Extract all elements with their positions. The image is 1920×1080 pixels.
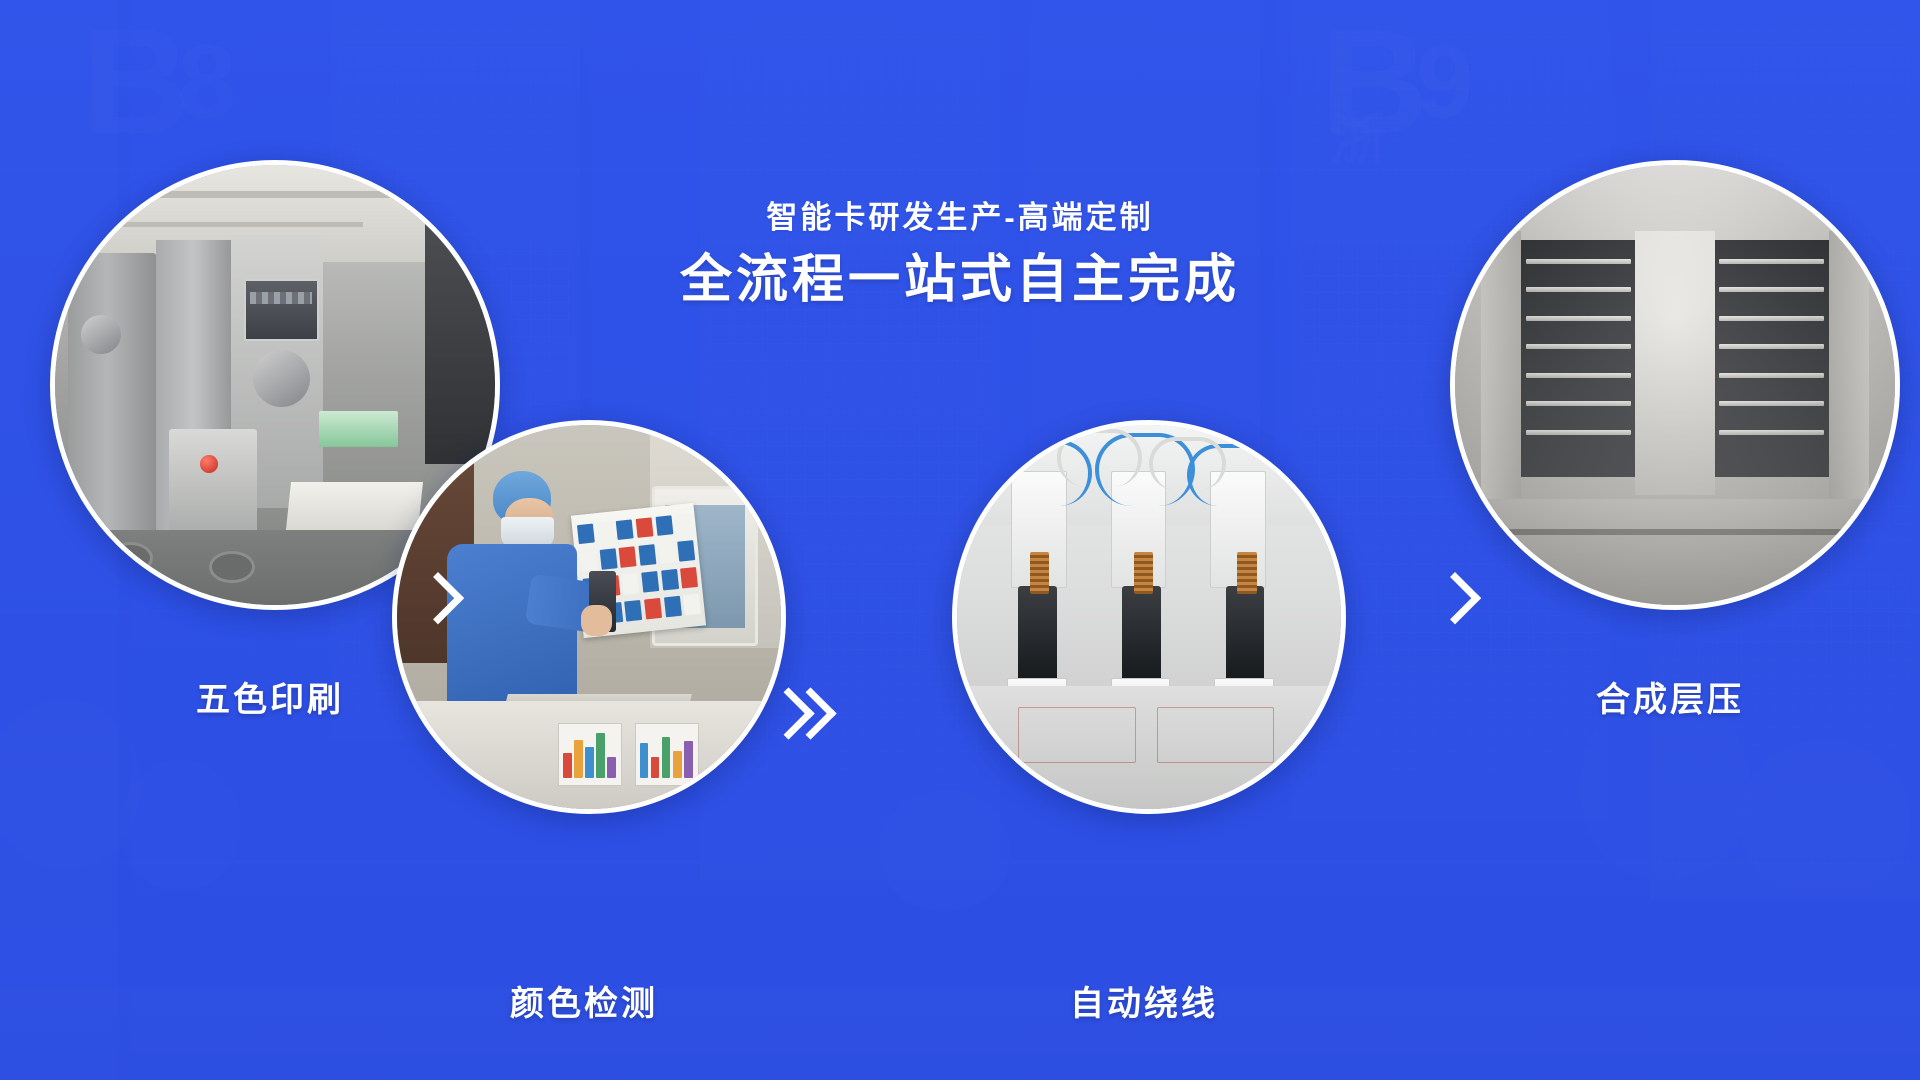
coil-winding-photo (957, 425, 1341, 809)
auto-winding-label: 自动绕线 (964, 976, 1324, 1025)
lamination-photo-circle[interactable] (1450, 160, 1900, 610)
lamination-press-photo (1455, 165, 1895, 605)
color-inspection-label: 颜色检测 (404, 976, 764, 1025)
color-inspection-photo (397, 425, 781, 809)
printing-label: 五色印刷 (90, 672, 450, 721)
auto-winding-photo-circle[interactable] (952, 420, 1346, 814)
color-inspection-photo-circle[interactable] (392, 420, 786, 814)
lamination-label: 合成层压 (1490, 672, 1850, 721)
poster-stage: B 8 B 9 浙 智能卡研发生产-高端定制 全流程一站式自主完成 (0, 0, 1920, 1080)
